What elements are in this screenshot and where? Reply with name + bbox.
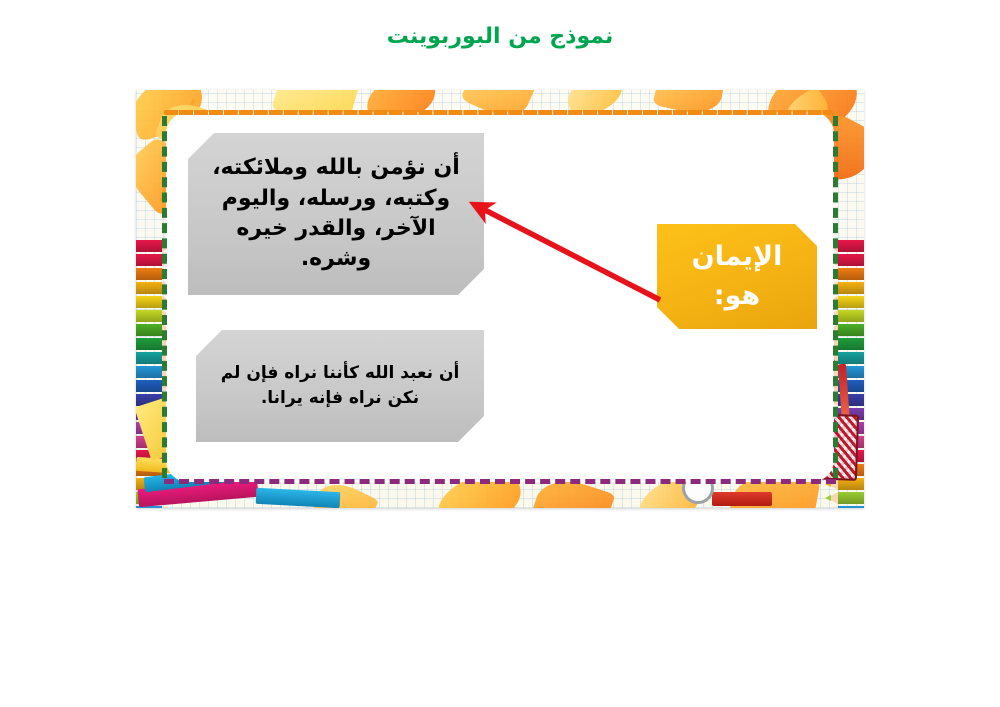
definition-box-iman[interactable]: أن نؤمن بالله وملائكته، وكتبه، ورسله، وا… [188,133,484,295]
definition-box-ihsan[interactable]: أن نعبد الله كأننا نراه فإن لم نكن نراه … [196,330,484,442]
label-box-iman-howa[interactable]: الإيمان هو: [657,224,817,329]
page-title: نموذج من البوربوينت [0,24,1000,49]
label-box-line-1: الإيمان [692,238,783,276]
label-box-line-2: هو: [714,277,760,315]
book-icon [256,488,341,508]
colored-pencil-icon [822,492,864,504]
slide-border-right [833,116,838,478]
slide-border-left [162,116,167,478]
slide-border-bottom [164,479,836,484]
colored-pencil-icon [822,506,864,508]
slide-border-top [164,110,836,115]
ruler-icon [712,492,772,506]
